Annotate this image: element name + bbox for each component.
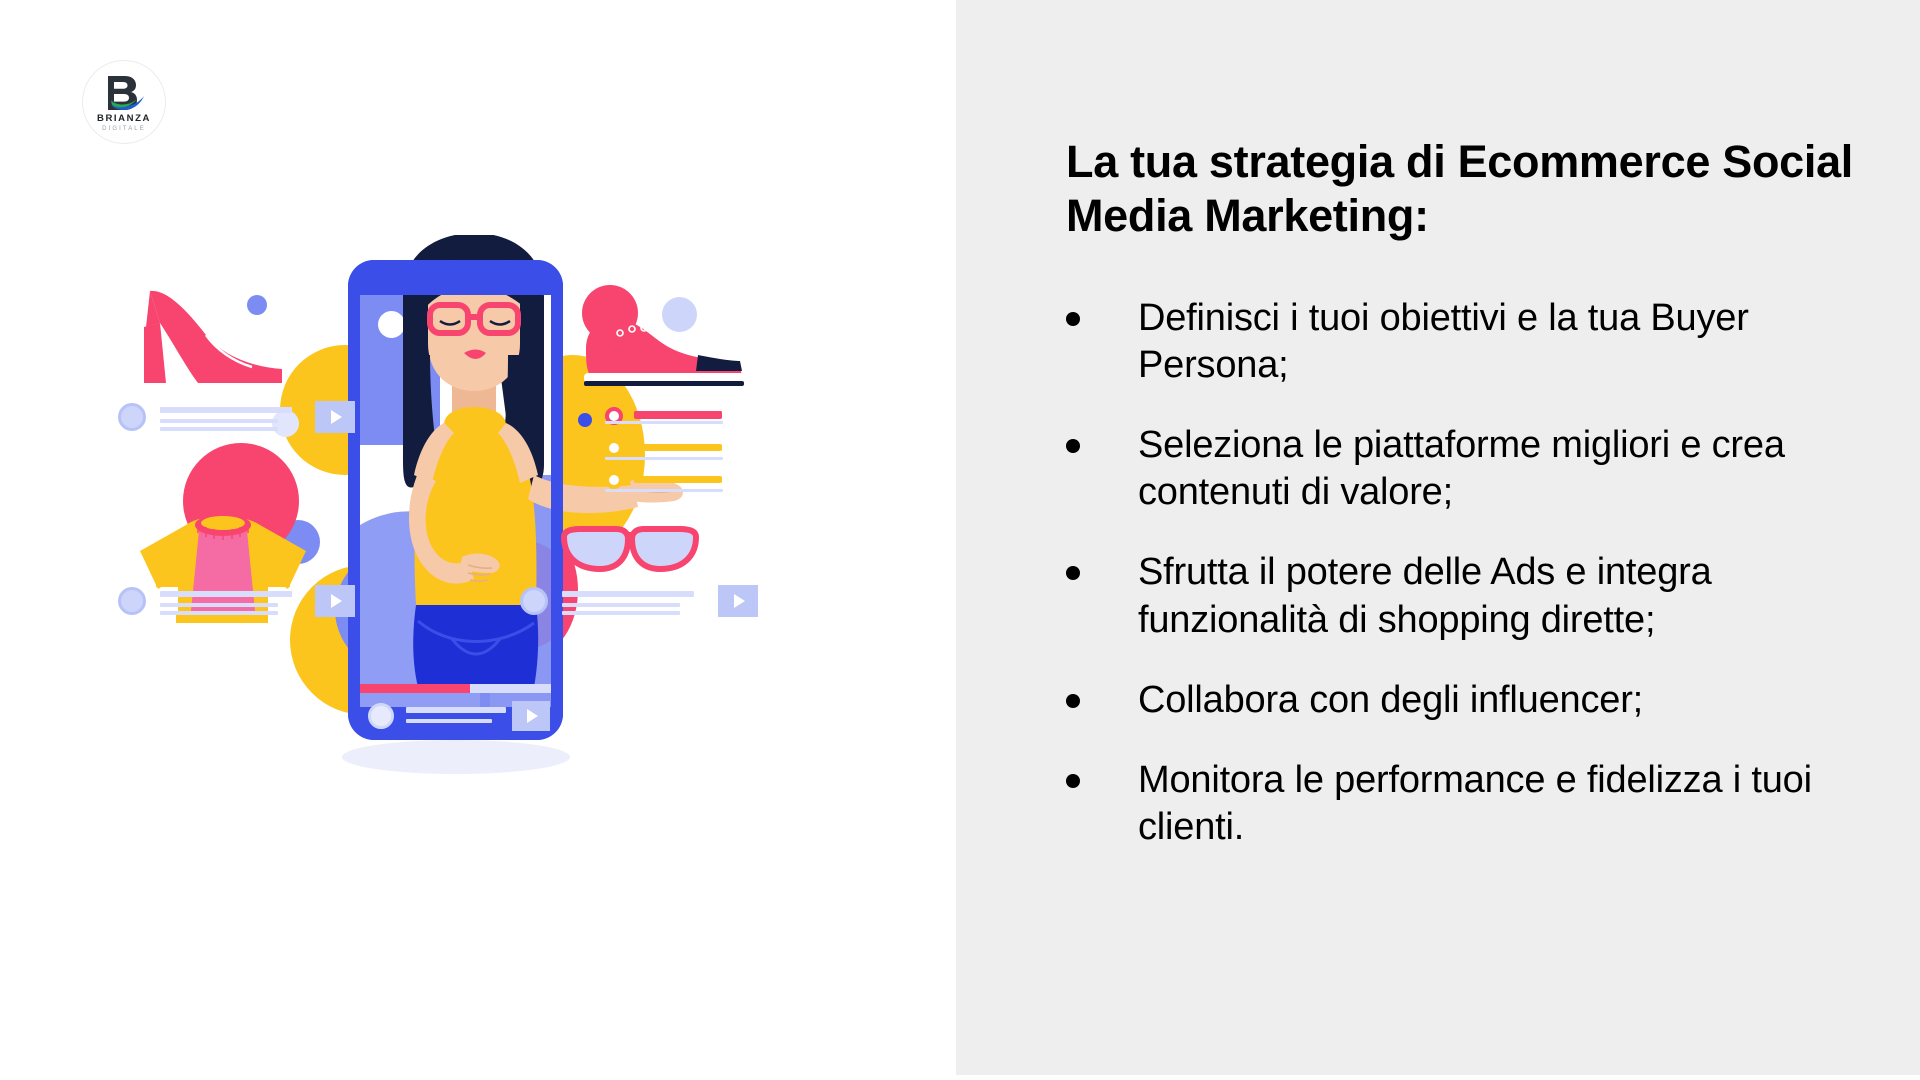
list-item: Definisci i tuoi obiettivi e la tua Buye… — [1066, 295, 1886, 389]
lavender-dot — [272, 410, 299, 437]
post-card-avatar — [520, 587, 548, 615]
strategy-bullet-list: Definisci i tuoi obiettivi e la tua Buye… — [1066, 295, 1886, 884]
brand-name: BRIANZA — [82, 114, 166, 124]
post-card-line — [562, 611, 680, 615]
pink-yellow-sweater-icon — [128, 443, 318, 628]
bullet-dot-icon — [1066, 774, 1080, 788]
list-item-label: Collabora con degli influencer; — [1138, 677, 1886, 724]
checklist-bar — [634, 476, 722, 483]
phone-post-avatar — [368, 703, 394, 729]
list-item: Sfrutta il potere delle Ads e integra fu… — [1066, 549, 1886, 643]
list-item-label: Definisci i tuoi obiettivi e la tua Buye… — [1138, 295, 1886, 389]
post-card-line — [160, 603, 278, 607]
bullet-dot-icon — [1066, 566, 1080, 580]
post-card-play-button[interactable] — [315, 585, 355, 617]
checklist-blue-dot — [578, 413, 592, 427]
checklist-line — [605, 489, 723, 492]
checklist-bar — [634, 411, 722, 414]
post-card-play-button[interactable] — [315, 401, 355, 433]
bullet-dot-icon — [1066, 312, 1080, 326]
ecommerce-social-shopping-illustration — [110, 235, 840, 815]
checklist-line — [605, 421, 723, 424]
play-icon — [734, 594, 745, 608]
list-item-label: Sfrutta il potere delle Ads e integra fu… — [1138, 549, 1886, 643]
bullet-dot-icon — [1066, 694, 1080, 708]
brianza-b-swoosh-logo-icon — [101, 74, 147, 114]
checklist-bullet-ring[interactable] — [605, 471, 623, 489]
pink-sunglasses-icon — [560, 525, 700, 585]
post-card-line — [160, 407, 292, 413]
smartphone-frame-overlay — [348, 260, 563, 740]
list-item-label: Monitora le performance e fidelizza i tu… — [1138, 757, 1886, 851]
post-card-avatar — [118, 587, 146, 615]
checklist-line — [605, 457, 723, 460]
bullet-dot-icon — [1066, 439, 1080, 453]
post-card-line — [160, 591, 292, 597]
list-item: Monitora le performance e fidelizza i tu… — [1066, 757, 1886, 851]
play-icon — [331, 594, 342, 608]
post-card-line — [160, 419, 278, 423]
brand-subtitle: DIGITALE — [82, 126, 166, 132]
phone-ground-shadow — [342, 740, 570, 774]
post-card-line — [562, 591, 694, 597]
brand-logo[interactable]: BRIANZA DIGITALE — [82, 60, 166, 144]
illustration-panel: BRIANZA DIGITALE — [0, 0, 956, 1080]
page-title: La tua strategia di Ecommerce Social Med… — [1066, 135, 1866, 243]
post-card-play-button[interactable] — [718, 585, 758, 617]
pink-sneaker-icon — [578, 307, 753, 397]
phone-post-line — [406, 707, 506, 713]
phone-progress-fill — [360, 684, 470, 693]
play-icon — [331, 410, 342, 424]
post-card-avatar — [118, 403, 146, 431]
checklist-bar — [634, 444, 722, 451]
list-item: Collabora con degli influencer; — [1066, 677, 1886, 724]
checklist-bullet-ring[interactable] — [605, 439, 623, 457]
post-card-line — [160, 611, 278, 615]
slide-root: BRIANZA DIGITALE — [0, 0, 1920, 1080]
panel-bottom-edge — [956, 1075, 1920, 1080]
post-card-line — [562, 603, 680, 607]
play-icon — [527, 709, 538, 723]
post-card-line — [160, 427, 278, 431]
pink-high-heel-shoe-icon — [120, 283, 290, 388]
list-item-label: Seleziona le piattaforme migliori e crea… — [1138, 422, 1886, 516]
phone-post-play-button[interactable] — [512, 701, 550, 731]
phone-post-line — [406, 719, 492, 723]
list-item: Seleziona le piattaforme migliori e crea… — [1066, 422, 1886, 516]
